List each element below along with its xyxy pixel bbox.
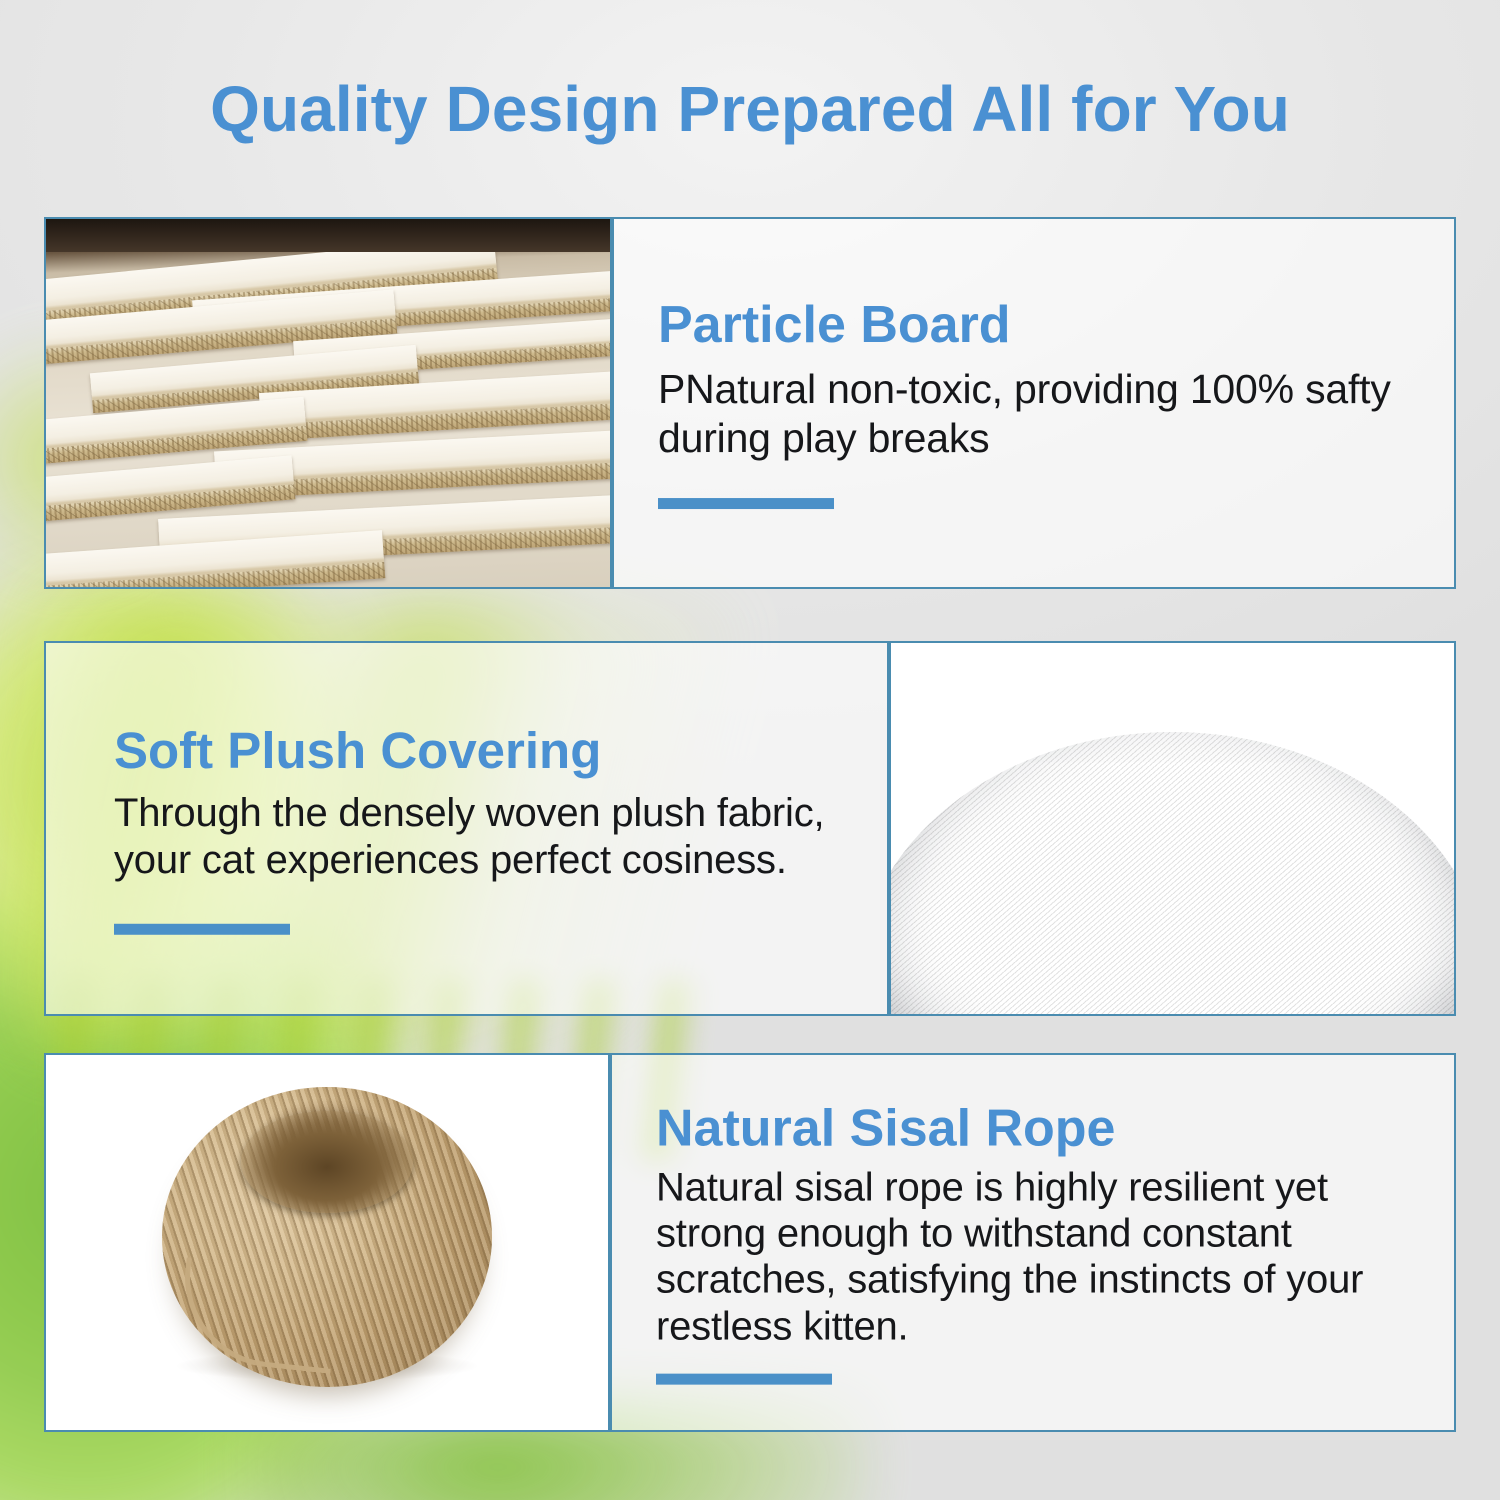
card-heading: Particle Board bbox=[658, 297, 1426, 353]
card-body-text: Natural sisal rope is highly resilient y… bbox=[656, 1164, 1426, 1350]
card-heading: Natural Sisal Rope bbox=[656, 1100, 1426, 1156]
sisal-twine-ball-photo bbox=[46, 1055, 608, 1430]
navy-plush-fabric-photo bbox=[891, 643, 1454, 1014]
card-image-panel-soft-plush-covering bbox=[889, 641, 1456, 1016]
plush-dome-shape bbox=[889, 732, 1456, 1016]
card-text-panel-soft-plush-covering: Soft Plush Covering Through the densely … bbox=[44, 641, 889, 1016]
particle-board-stack-photo bbox=[46, 219, 610, 587]
card-text-panel-natural-sisal-rope: Natural Sisal Rope Natural sisal rope is… bbox=[610, 1053, 1456, 1432]
card-body-text: Through the densely woven plush fabric, … bbox=[114, 789, 859, 883]
card-text-panel-particle-board: Particle Board PNatural non-toxic, provi… bbox=[612, 217, 1456, 589]
feature-card-soft-plush-covering: Soft Plush Covering Through the densely … bbox=[44, 641, 1456, 1016]
card-image-panel-natural-sisal-rope bbox=[44, 1053, 610, 1432]
accent-bar bbox=[658, 498, 834, 509]
card-heading: Soft Plush Covering bbox=[114, 722, 859, 777]
accent-bar bbox=[656, 1374, 832, 1385]
card-image-panel-particle-board bbox=[44, 217, 612, 589]
card-body-text: PNatural non-toxic, providing 100% safty… bbox=[658, 365, 1426, 462]
page-title: Quality Design Prepared All for You bbox=[0, 72, 1500, 146]
infographic-canvas: Quality Design Prepared All for You Part… bbox=[0, 0, 1500, 1500]
feature-card-particle-board: Particle Board PNatural non-toxic, provi… bbox=[44, 217, 1456, 589]
accent-bar bbox=[114, 924, 290, 935]
feature-card-natural-sisal-rope: Natural Sisal Rope Natural sisal rope is… bbox=[44, 1053, 1456, 1432]
